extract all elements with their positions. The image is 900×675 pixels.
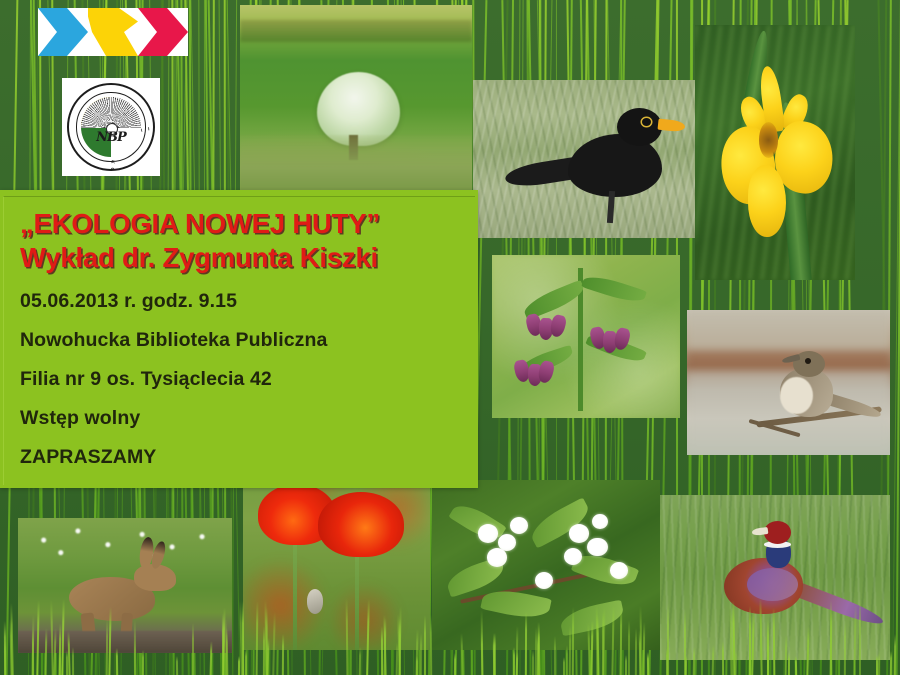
krk-letter-k-red [138,8,188,56]
photo-warbler-on-branch: Łozówka na gałęzi [687,310,890,455]
seal-monogram: NBP [69,130,153,145]
event-address: Filia nr 9 os. Tysiąclecia 42 [20,368,468,391]
poster-canvas: Łąka z kwitnącym drzewem Kos na trawniku… [0,0,900,675]
photo-common-pheasant: Bażant zwyczajny [660,495,890,660]
krk-letter-r-yellow [88,8,138,56]
photo-yellow-iris-flower: Kosaciec żółty [695,25,855,280]
photo-bird-cherry-blossom: Czeremcha zwyczajna [432,480,660,650]
photo-meadow-with-blossoming-tree: Łąka z kwitnącym drzewem [240,5,472,190]
krk-city-logo [38,8,188,56]
event-datetime: 05.06.2013 r. godz. 9.15 [20,290,468,313]
event-title-line1: „EKOLOGIA NOWEJ HUTY” [20,208,468,240]
event-admission: Wstęp wolny [20,407,468,430]
krk-letter-k-cyan [38,8,88,56]
photo-brown-hare-in-meadow: Zając szarak [18,518,232,653]
event-info-panel: „EKOLOGIA NOWEJ HUTY” Wykład dr. Zygmunt… [0,190,478,488]
event-invitation: ZAPRASZAMY [20,446,468,469]
event-venue: Nowohucka Biblioteka Publiczna [20,329,468,352]
photo-blackbird-on-lawn: Kos na trawniku [473,80,698,238]
seal-ring: NOWOHUCKA BIBLIOTEKA PUBLICZNA NBP [67,83,155,171]
seal-disc [81,97,142,158]
library-seal-logo: NOWOHUCKA BIBLIOTEKA PUBLICZNA NBP [62,78,160,176]
seal-sunburst-icon [81,97,142,129]
photo-comfrey-purple-flowers: Żywokost lekarski [492,255,680,418]
event-title-line2: Wykład dr. Zygmunta Kiszki [20,242,468,274]
seal-center-dot [106,123,118,135]
